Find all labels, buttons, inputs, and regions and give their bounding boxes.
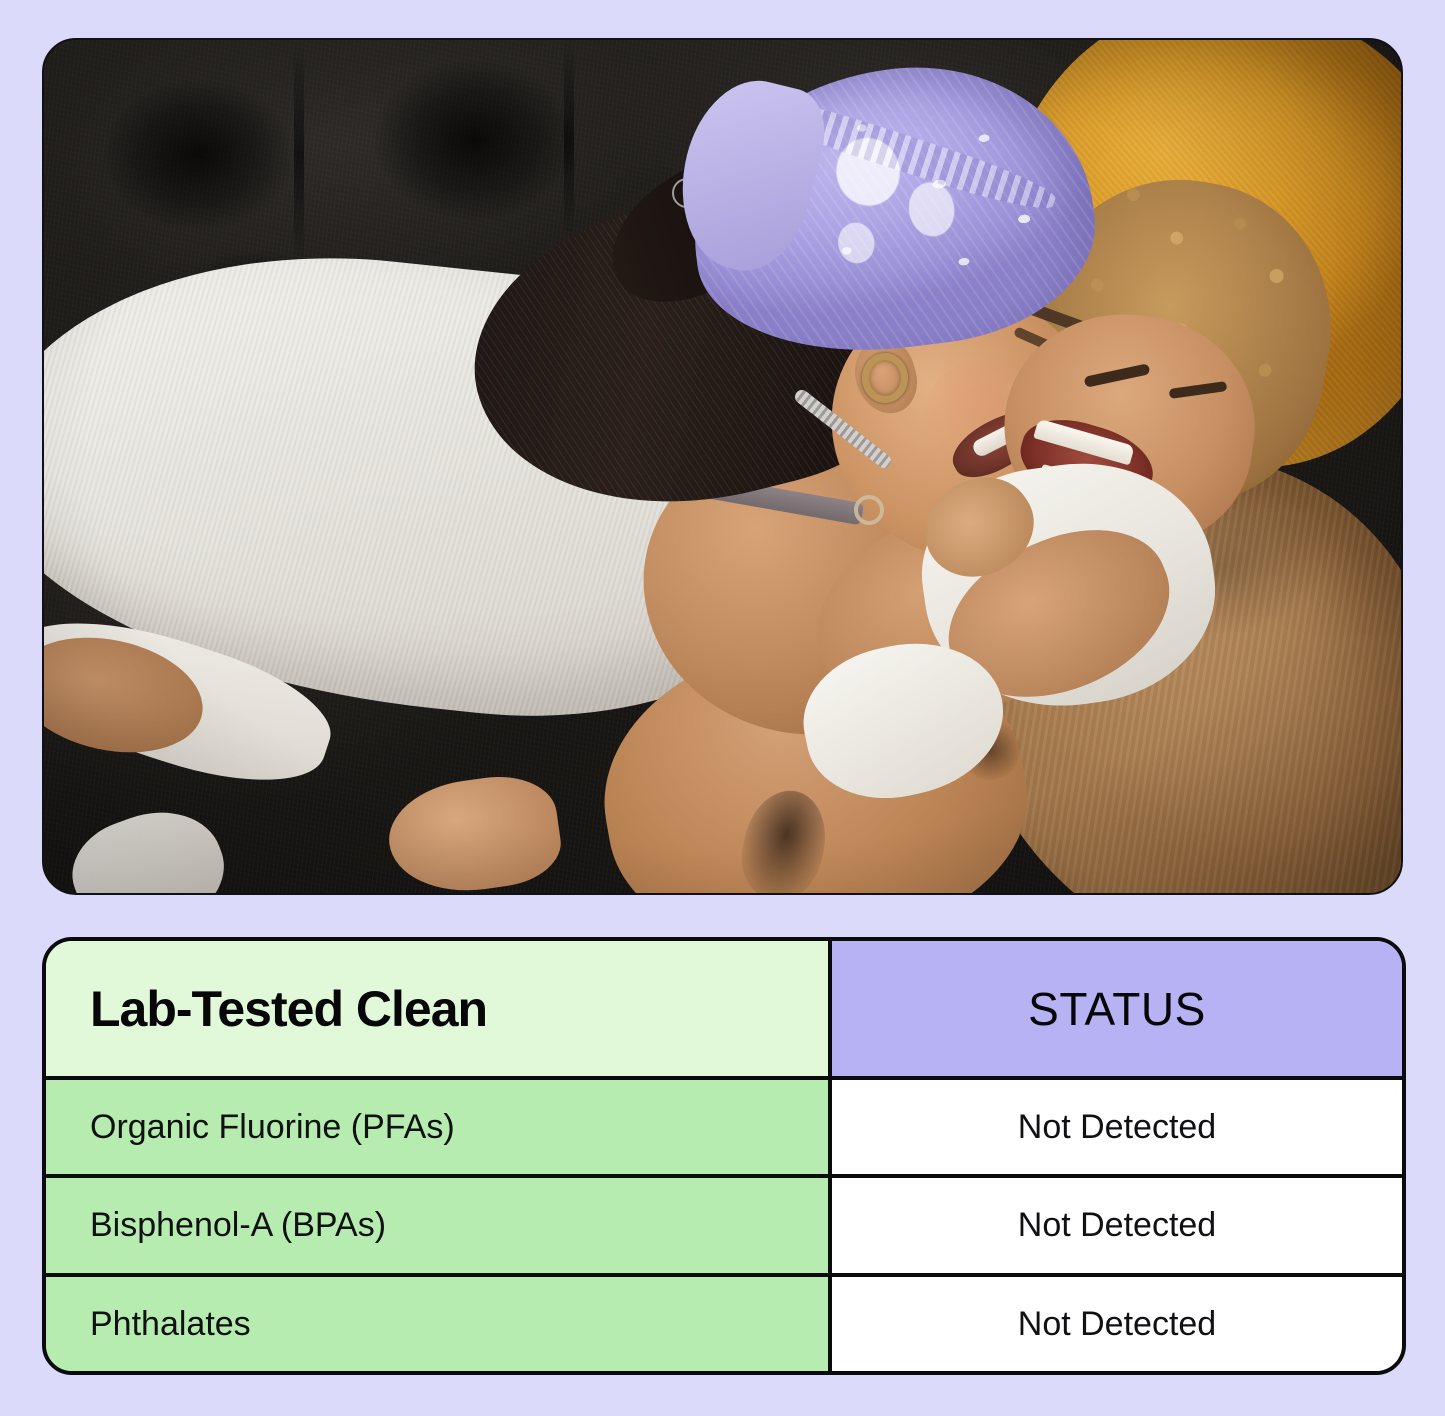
status-column-header: STATUS <box>1028 986 1206 1032</box>
couch-seam <box>564 40 574 240</box>
status-badge: Not Detected <box>1018 1307 1216 1341</box>
ring-icon <box>854 495 884 525</box>
analyte-cell: Organic Fluorine (PFAs) <box>46 1080 832 1174</box>
couch-tuft <box>374 60 574 220</box>
table-row: Bisphenol-A (BPAs) Not Detected <box>46 1174 1402 1272</box>
analyte-cell: Bisphenol-A (BPAs) <box>46 1178 832 1272</box>
analyte-label: Organic Fluorine (PFAs) <box>90 1110 455 1144</box>
table-row: Phthalates Not Detected <box>46 1273 1402 1371</box>
table-header-row: Lab-Tested Clean STATUS <box>46 941 1402 1076</box>
status-cell: Not Detected <box>832 1277 1402 1371</box>
photo-illustration <box>44 40 1401 893</box>
page-title: Lab-Tested Clean <box>90 984 487 1034</box>
table-row: Organic Fluorine (PFAs) Not Detected <box>46 1076 1402 1174</box>
status-cell: Not Detected <box>832 1178 1402 1272</box>
analyte-cell: Phthalates <box>46 1277 832 1371</box>
table-header-title-cell: Lab-Tested Clean <box>46 941 832 1076</box>
status-badge: Not Detected <box>1018 1208 1216 1242</box>
analyte-label: Bisphenol-A (BPAs) <box>90 1208 386 1242</box>
table-header-status-cell: STATUS <box>832 941 1402 1076</box>
couch-tuft <box>104 80 294 230</box>
lab-results-table: Lab-Tested Clean STATUS Organic Fluorine… <box>42 937 1406 1375</box>
status-cell: Not Detected <box>832 1080 1402 1174</box>
hero-photo-card <box>42 38 1403 895</box>
couch-seam <box>294 40 304 270</box>
status-badge: Not Detected <box>1018 1110 1216 1144</box>
analyte-label: Phthalates <box>90 1307 251 1341</box>
gold-hoop-earring-icon <box>862 353 908 403</box>
